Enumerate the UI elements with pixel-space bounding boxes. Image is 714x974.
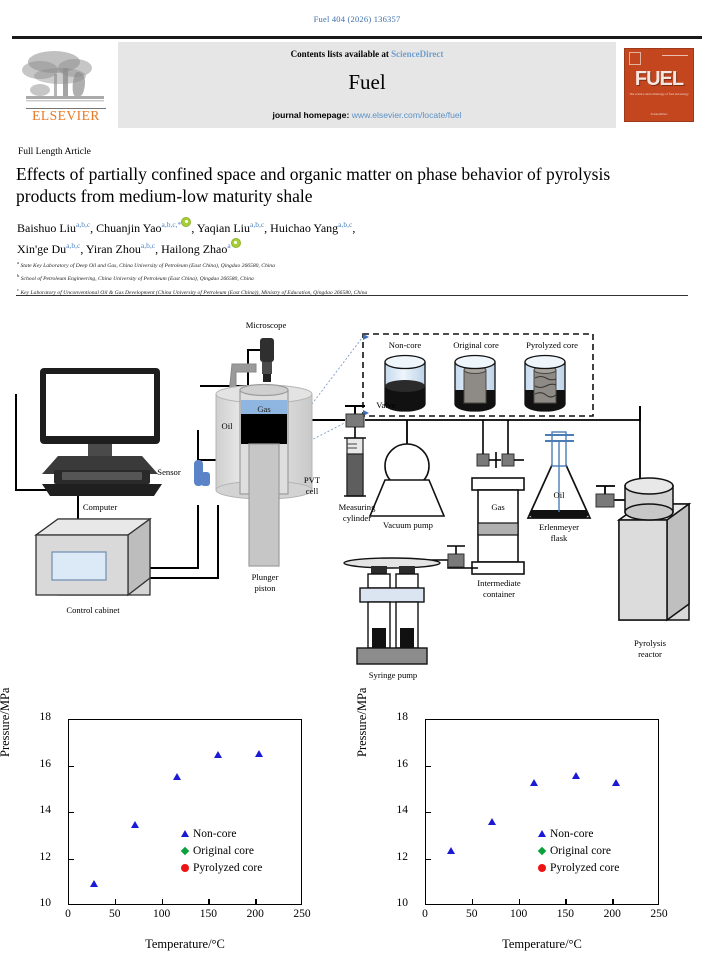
valve-glyph bbox=[345, 406, 365, 427]
cover-elsevier-mark bbox=[629, 52, 641, 65]
label-syringe-pump: Syringe pump bbox=[345, 670, 441, 680]
chart-right-legend: Non-core Original core Pyrolyzed core bbox=[535, 825, 619, 876]
syringe-pump-glyph bbox=[344, 546, 478, 664]
y-tick-mark bbox=[68, 859, 74, 860]
legend-item-original-core: Original core bbox=[178, 842, 262, 859]
data-point-non-core bbox=[214, 734, 222, 752]
chart-right-xlabel: Temperature/°C bbox=[425, 937, 659, 952]
affiliation-text: State Key Laboratory of Deep Oil and Gas… bbox=[20, 263, 274, 269]
x-tick-mark bbox=[115, 899, 116, 905]
chart-right-plot-area bbox=[425, 719, 659, 905]
circle-marker-icon bbox=[535, 864, 548, 872]
computer-glyph bbox=[40, 368, 162, 496]
intermediate-container-glyph bbox=[472, 420, 524, 574]
cover-footer-text: ScienceDirect bbox=[625, 112, 693, 116]
x-tick-mark bbox=[255, 899, 256, 905]
reactor-valve-glyph bbox=[596, 486, 615, 507]
affiliation-text: School of Petroleum Engineering, China U… bbox=[21, 276, 254, 282]
y-tick-label: 16 bbox=[384, 758, 408, 770]
label-vacuum-pump: Vacuum pump bbox=[366, 520, 450, 530]
label-pyrolyzed-core: Pyrolyzed core bbox=[512, 340, 592, 350]
homepage-url-link[interactable]: www.elsevier.com/locate/fuel bbox=[352, 110, 462, 120]
y-tick-mark bbox=[425, 766, 431, 767]
legend-item-non-core: Non-core bbox=[535, 825, 619, 842]
data-point-non-core bbox=[612, 762, 620, 780]
affiliation-mark: b bbox=[17, 273, 19, 278]
x-tick-mark bbox=[162, 899, 163, 905]
contents-prefix: Contents lists available at bbox=[291, 49, 392, 59]
page-title: Effects of partially confined space and … bbox=[16, 163, 656, 207]
label-computer: Computer bbox=[58, 502, 142, 512]
x-tick-label: 200 bbox=[599, 908, 625, 920]
x-tick-mark bbox=[612, 899, 613, 905]
label-original-core: Original core bbox=[438, 340, 514, 350]
author-name: Yiran Zhou bbox=[86, 242, 141, 256]
masthead-center: Contents lists available at ScienceDirec… bbox=[118, 42, 616, 128]
elsevier-tree-logo: ELSEVIER bbox=[20, 46, 112, 124]
legend-item-original-core: Original core bbox=[535, 842, 619, 859]
author-baishuo-liu[interactable]: Baishuo Liua,b,c bbox=[17, 221, 90, 235]
x-tick-label: 0 bbox=[412, 908, 438, 920]
diamond-marker-icon bbox=[535, 848, 548, 854]
y-tick-mark bbox=[68, 812, 74, 813]
label-gas-container: Gas bbox=[483, 502, 513, 512]
x-tick-mark bbox=[208, 899, 209, 905]
data-point-non-core bbox=[488, 801, 496, 819]
label-plunger-line2: piston bbox=[234, 583, 296, 593]
y-tick-mark bbox=[425, 812, 431, 813]
label-pyrolysis-line1: Pyrolysis bbox=[610, 638, 690, 648]
circle-marker-icon bbox=[178, 864, 191, 872]
label-sensor: Sensor bbox=[146, 467, 192, 477]
x-tick-mark bbox=[472, 899, 473, 905]
author-huichao-yang[interactable]: Huichao Yanga,b,c bbox=[270, 221, 352, 235]
chart-panel-right: Pressure/MPa Temperature/°C Non-core Ori… bbox=[357, 705, 714, 974]
label-intermediate-line1: Intermediate bbox=[455, 578, 543, 588]
cover-title-text: FUEL bbox=[625, 68, 693, 91]
author-name: Hailong Zhao bbox=[161, 242, 227, 256]
x-tick-label: 150 bbox=[552, 908, 578, 920]
y-tick-label: 12 bbox=[27, 851, 51, 863]
sensor-glyph bbox=[194, 460, 210, 486]
header-divider bbox=[16, 295, 688, 296]
label-oil-in-cell: Oil bbox=[214, 421, 240, 431]
author-name: Yaqian Liu bbox=[197, 221, 250, 235]
x-tick-label: 250 bbox=[646, 908, 672, 920]
elsevier-wordmark: ELSEVIER bbox=[22, 108, 110, 124]
author-xinge-du[interactable]: Xin'ge Dua,b,c bbox=[17, 242, 80, 256]
author-hailong-zhao[interactable]: Hailong Zhaoa bbox=[161, 242, 241, 256]
journal-cover-cell: FUEL The science and technology of fuel … bbox=[616, 42, 702, 128]
x-tick-label: 100 bbox=[149, 908, 175, 920]
sciencedirect-link[interactable]: ScienceDirect bbox=[391, 49, 443, 59]
chart-left-legend: Non-core Original core Pyrolyzed core bbox=[178, 825, 262, 876]
data-point-non-core bbox=[255, 733, 263, 751]
affiliation-a: a State Key Laboratory of Deep Oil and G… bbox=[17, 258, 677, 271]
author-affil-sup: a,b,c bbox=[338, 220, 352, 229]
y-tick-label: 18 bbox=[384, 711, 408, 723]
chart-panel-left: Pressure/MPa Temperature/°C Non-core Ori… bbox=[0, 705, 357, 974]
y-tick-label: 12 bbox=[384, 851, 408, 863]
cover-subtitle-text: The science and technology of fuel and e… bbox=[625, 92, 693, 96]
chart-left-plot-area bbox=[68, 719, 302, 905]
legend-label: Pyrolyzed core bbox=[550, 862, 619, 874]
label-plunger-line1: Plunger bbox=[234, 572, 296, 582]
running-head: Fuel 404 (2026) 136357 bbox=[0, 14, 714, 24]
author-affil-sup: a,b,c bbox=[141, 241, 155, 250]
x-tick-label: 200 bbox=[242, 908, 268, 920]
legend-item-pyrolyzed-core: Pyrolyzed core bbox=[178, 859, 262, 876]
author-affil-sup: a,b,c bbox=[66, 241, 80, 250]
journal-homepage-line: journal homepage: www.elsevier.com/locat… bbox=[118, 110, 616, 120]
apparatus-schematic: Non-core Original core Pyrolyzed core Mi… bbox=[0, 320, 714, 720]
author-name: Chuanjin Yao bbox=[96, 221, 161, 235]
x-tick-label: 250 bbox=[289, 908, 315, 920]
orcid-icon[interactable] bbox=[181, 217, 191, 227]
erlenmeyer-flask-glyph bbox=[528, 432, 590, 518]
label-intermediate-line2: container bbox=[455, 589, 543, 599]
legend-label: Pyrolyzed core bbox=[193, 862, 262, 874]
author-name: Baishuo Liu bbox=[17, 221, 76, 235]
label-valve: Valve bbox=[366, 400, 406, 410]
data-point-non-core bbox=[90, 863, 98, 881]
legend-label: Non-core bbox=[193, 828, 236, 840]
label-microscope: Microscope bbox=[226, 320, 306, 330]
label-noncore: Non-core bbox=[372, 340, 438, 350]
author-list: Baishuo Liua,b,c, Chuanjin Yaoa,b,c,*, Y… bbox=[17, 216, 617, 258]
chart-left-ylabel: Pressure/MPa bbox=[0, 688, 13, 757]
chart-left-xlabel: Temperature/°C bbox=[68, 937, 302, 952]
triangle-marker-icon bbox=[178, 830, 191, 837]
fuel-cover-image: FUEL The science and technology of fuel … bbox=[624, 48, 694, 122]
x-tick-label: 50 bbox=[102, 908, 128, 920]
diamond-marker-icon bbox=[178, 848, 191, 854]
author-name: Xin'ge Du bbox=[17, 242, 66, 256]
x-tick-label: 150 bbox=[195, 908, 221, 920]
x-tick-mark bbox=[565, 899, 566, 905]
journal-title: Fuel bbox=[118, 70, 616, 95]
legend-item-pyrolyzed-core: Pyrolyzed core bbox=[535, 859, 619, 876]
y-tick-label: 14 bbox=[27, 804, 51, 816]
elsevier-tree-icon bbox=[20, 46, 112, 112]
label-gas-in-cell: Gas bbox=[241, 404, 287, 414]
label-pyrolysis-line2: reactor bbox=[610, 649, 690, 659]
journal-masthead: ELSEVIER Contents lists available at Sci… bbox=[12, 36, 702, 128]
data-point-non-core bbox=[173, 756, 181, 774]
charts-region: Pressure/MPa Temperature/°C Non-core Ori… bbox=[0, 705, 714, 974]
label-erlenmeyer-line1: Erlenmeyer bbox=[518, 522, 600, 532]
affiliation-b: b School of Petroleum Engineering, China… bbox=[17, 271, 677, 284]
label-measuring-line1: Measuring bbox=[324, 502, 390, 512]
y-tick-mark bbox=[425, 859, 431, 860]
label-control-cabinet: Control cabinet bbox=[40, 605, 146, 615]
article-type: Full Length Article bbox=[18, 147, 91, 157]
data-point-non-core bbox=[572, 755, 580, 773]
y-tick-label: 16 bbox=[27, 758, 51, 770]
x-tick-label: 0 bbox=[55, 908, 81, 920]
x-tick-mark bbox=[519, 899, 520, 905]
elsevier-logo-cell: ELSEVIER bbox=[12, 42, 118, 128]
homepage-prefix: journal homepage: bbox=[272, 110, 351, 120]
y-tick-label: 14 bbox=[384, 804, 408, 816]
author-affil-sup: a,b,c bbox=[250, 220, 264, 229]
affiliation-mark: c bbox=[17, 287, 19, 292]
label-oil-flask: Oil bbox=[544, 490, 574, 500]
data-point-non-core bbox=[131, 804, 139, 822]
y-tick-label: 18 bbox=[27, 711, 51, 723]
author-yiran-zhou[interactable]: Yiran Zhoua,b,c bbox=[86, 242, 155, 256]
data-point-non-core bbox=[447, 830, 455, 848]
triangle-marker-icon bbox=[535, 830, 548, 837]
legend-label: Original core bbox=[193, 845, 254, 857]
author-affil-sup: a,b,c,* bbox=[162, 220, 182, 229]
y-tick-label: 10 bbox=[27, 897, 51, 909]
contents-line: Contents lists available at ScienceDirec… bbox=[118, 49, 616, 59]
y-tick-mark bbox=[68, 766, 74, 767]
x-tick-label: 50 bbox=[459, 908, 485, 920]
label-erlenmeyer-line2: flask bbox=[518, 533, 600, 543]
author-affil-sup: a,b,c bbox=[76, 220, 90, 229]
label-pvt-cell-line1: PVT bbox=[292, 475, 332, 485]
author-yaqian-liu[interactable]: Yaqian Liua,b,c bbox=[197, 221, 264, 235]
legend-label: Non-core bbox=[550, 828, 593, 840]
measuring-cylinder-glyph bbox=[344, 427, 366, 496]
affiliation-list: a State Key Laboratory of Deep Oil and G… bbox=[17, 258, 677, 298]
pyrolysis-reactor-glyph bbox=[619, 478, 689, 620]
legend-label: Original core bbox=[550, 845, 611, 857]
control-cabinet-glyph bbox=[36, 519, 150, 611]
cover-top-rule bbox=[662, 55, 688, 56]
x-tick-label: 100 bbox=[506, 908, 532, 920]
affiliation-mark: a bbox=[17, 260, 19, 265]
label-pvt-cell-line2: cell bbox=[292, 486, 332, 496]
author-name: Huichao Yang bbox=[270, 221, 338, 235]
legend-item-non-core: Non-core bbox=[178, 825, 262, 842]
chart-right-ylabel: Pressure/MPa bbox=[355, 688, 370, 757]
data-point-non-core bbox=[530, 762, 538, 780]
y-tick-label: 10 bbox=[384, 897, 408, 909]
author-chuanjin-yao[interactable]: Chuanjin Yaoa,b,c,* bbox=[96, 221, 191, 235]
orcid-icon[interactable] bbox=[231, 238, 241, 248]
